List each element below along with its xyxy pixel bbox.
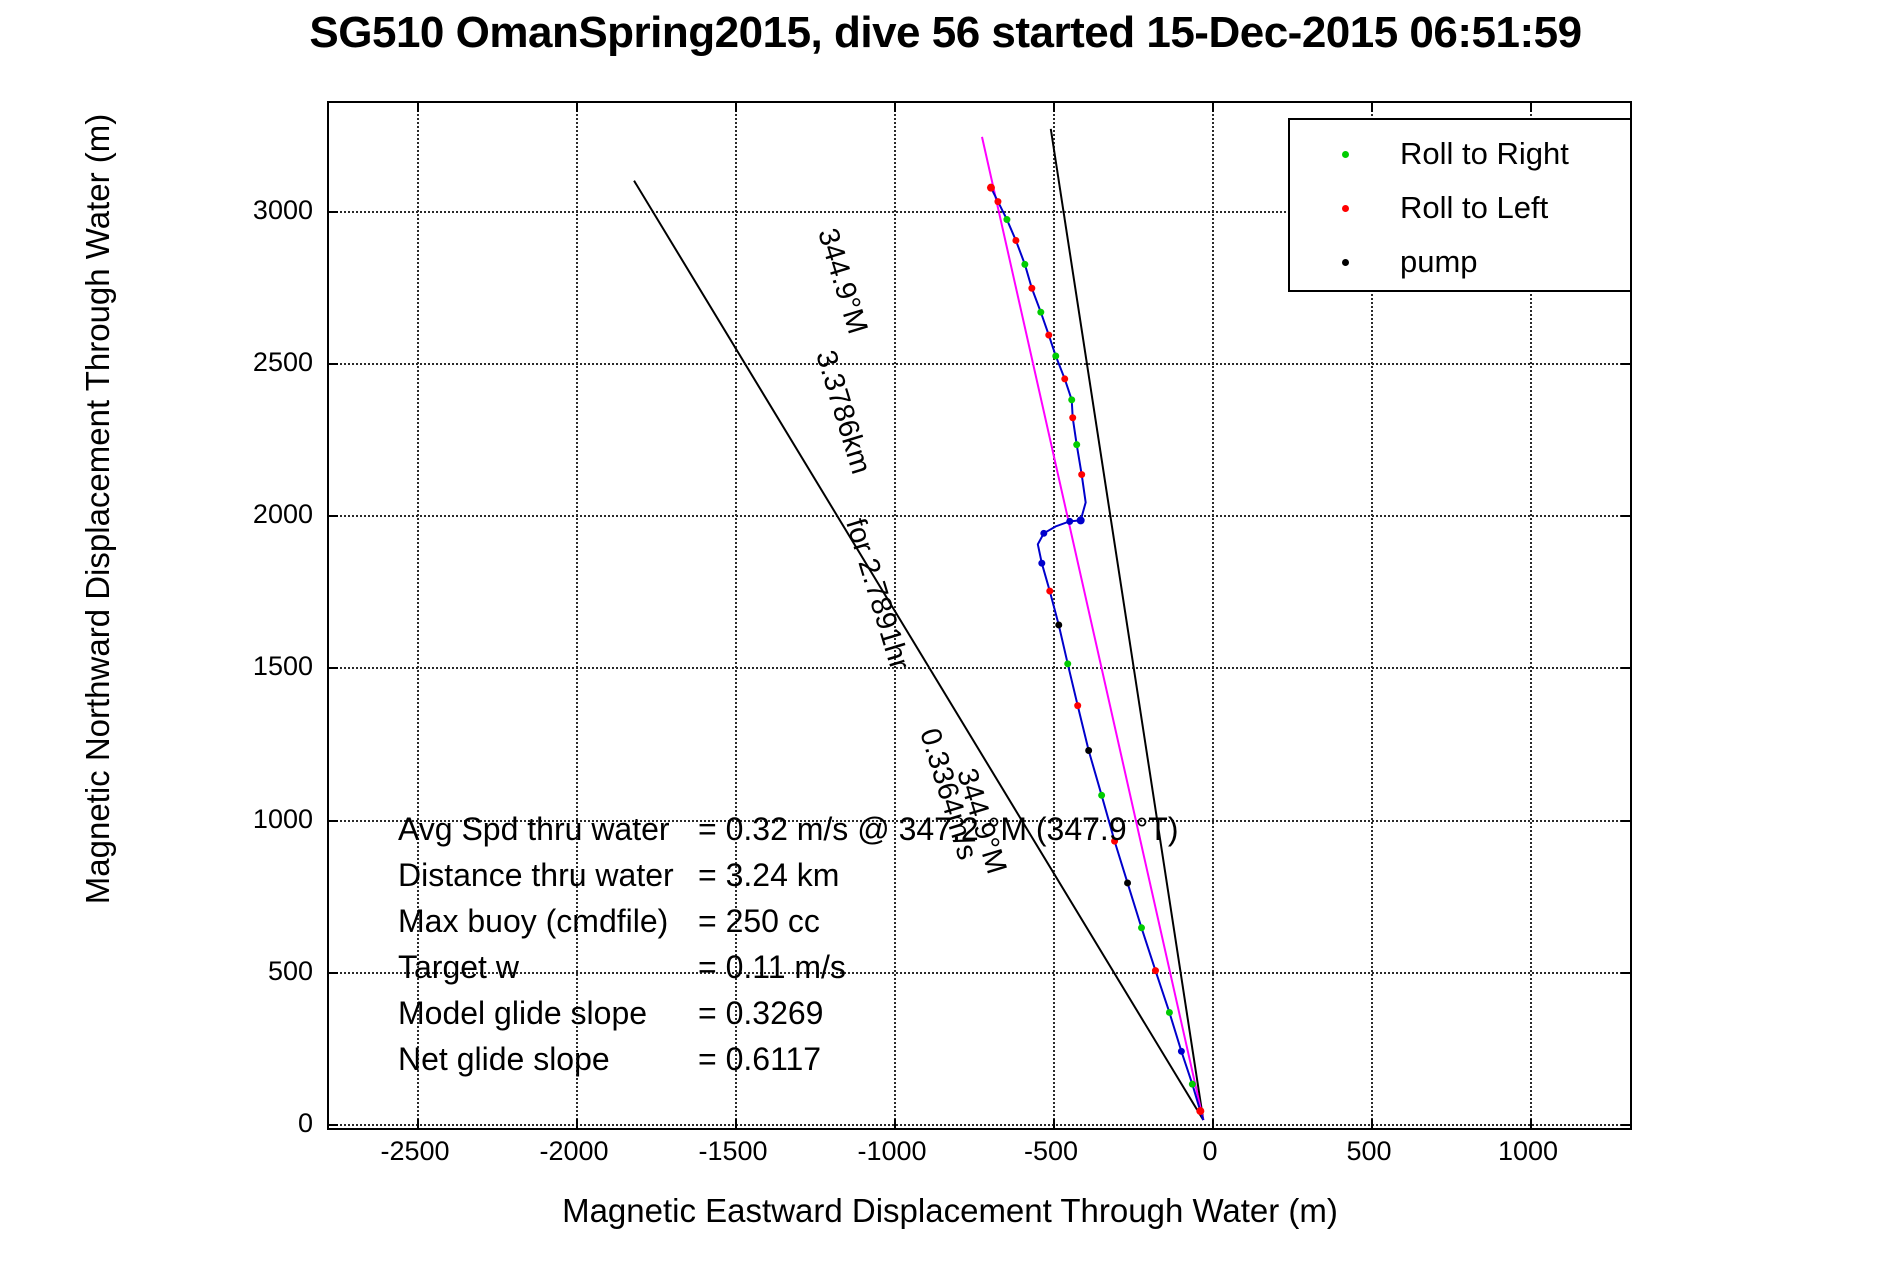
annotation-row: Avg Spd thru water = 0.32 m/s @ 347.2 °M… (398, 811, 1179, 857)
y-tick-label: 0 (187, 1108, 313, 1139)
annotation-label: Model glide slope (398, 995, 698, 1032)
green-dot-icon (1342, 151, 1349, 158)
annotation-label: Avg Spd thru water (398, 811, 698, 848)
annotation-label: Distance thru water (398, 857, 698, 894)
annotation-row: Net glide slope = 0.6117 (398, 1041, 1179, 1087)
summary-annotations: Avg Spd thru water = 0.32 m/s @ 347.2 °M… (398, 811, 1179, 1087)
x-tick-label: -2500 (335, 1136, 495, 1167)
annotation-value: = 0.3269 (698, 995, 823, 1032)
annotation-row: Distance thru water = 3.24 km (398, 857, 1179, 903)
legend[interactable]: Roll to Right Roll to Left pump (1288, 118, 1632, 292)
legend-item-roll-to-right[interactable]: Roll to Right (1290, 128, 1630, 180)
y-axis-label: Magnetic Northward Displacement Through … (79, 59, 117, 959)
annotation-row: Max buoy (cmdfile) = 250 cc (398, 903, 1179, 949)
x-axis-label: Magnetic Eastward Displacement Through W… (270, 1192, 1630, 1230)
legend-item-roll-to-left[interactable]: Roll to Left (1290, 182, 1630, 234)
annotation-value: = 0.32 m/s @ 347.2 °M (347.9 °T) (698, 811, 1179, 848)
x-tick-label: -1500 (653, 1136, 813, 1167)
annotation-label: Net glide slope (398, 1041, 698, 1078)
x-tick-label: -500 (971, 1136, 1131, 1167)
annotation-value: = 0.6117 (698, 1041, 821, 1078)
y-tick-label: 3000 (187, 195, 313, 226)
annotation-value: = 250 cc (698, 903, 820, 940)
red-dot-icon (1342, 205, 1349, 212)
annotation-row: Target w = 0.11 m/s (398, 949, 1179, 995)
x-tick-label: 0 (1130, 1136, 1290, 1167)
legend-label-pump: pump (1400, 244, 1478, 280)
annotation-label: Target w (398, 949, 698, 986)
page-title: SG510 OmanSpring2015, dive 56 started 15… (0, 8, 1891, 58)
x-tick-label: 1000 (1448, 1136, 1608, 1167)
black-dot-icon (1342, 259, 1349, 266)
y-tick-label: 1500 (187, 651, 313, 682)
annotation-label: Max buoy (cmdfile) (398, 903, 698, 940)
legend-label-roll-to-right: Roll to Right (1400, 136, 1569, 172)
annotation-value: = 3.24 km (698, 857, 839, 894)
annotation-row: Model glide slope = 0.3269 (398, 995, 1179, 1041)
x-tick-label: -1000 (812, 1136, 972, 1167)
plot-canvas: SG510 OmanSpring2015, dive 56 started 15… (0, 0, 1891, 1262)
legend-marker-pump (1290, 236, 1400, 288)
y-tick-label: 1000 (187, 804, 313, 835)
x-tick-label: -2000 (494, 1136, 654, 1167)
y-tick-label: 500 (187, 956, 313, 987)
y-tick-label: 2000 (187, 499, 313, 530)
legend-marker-roll-to-right (1290, 128, 1400, 180)
x-tick-label: 500 (1289, 1136, 1449, 1167)
annotation-value: = 0.11 m/s (698, 949, 846, 986)
legend-marker-roll-to-left (1290, 182, 1400, 234)
legend-label-roll-to-left: Roll to Left (1400, 190, 1548, 226)
y-tick-label: 2500 (187, 347, 313, 378)
legend-item-pump[interactable]: pump (1290, 236, 1630, 288)
